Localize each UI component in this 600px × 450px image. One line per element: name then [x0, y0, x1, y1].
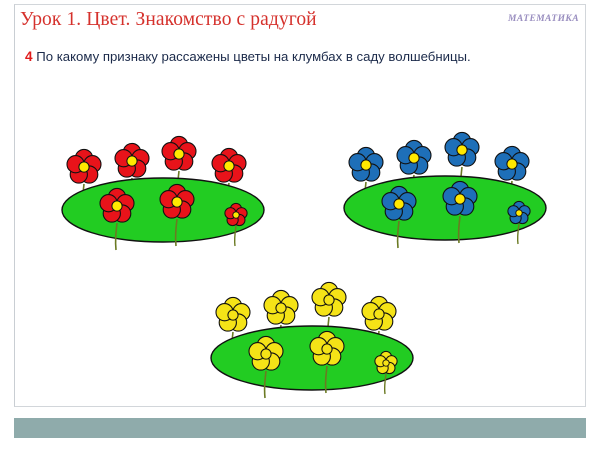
flower-back-row: [67, 136, 246, 211]
flower-back-row: [349, 132, 529, 209]
page-title: Урок 1. Цвет. Знакомство с радугой: [20, 9, 317, 31]
flower-front-row: [100, 184, 247, 250]
question-number: 4: [25, 49, 33, 64]
flower-front-row: [249, 331, 397, 398]
footer-accent-bar: [14, 418, 586, 438]
flower-back-row: [216, 282, 396, 359]
flower-bed-red: [53, 123, 283, 253]
question-block: 4 По какому признаку рассажены цветы на …: [25, 48, 525, 65]
bed-ground-ellipse: [62, 178, 264, 242]
flower-front-row: [382, 181, 530, 248]
bed-ground-ellipse: [344, 176, 546, 240]
garden-illustration: Три клумбы с цветами разного цвета Красн…: [15, 5, 587, 408]
slide-root: Урок 1. Цвет. Знакомство с радугой МАТЕМ…: [0, 0, 600, 450]
bed-ground-ellipse: [211, 326, 413, 390]
flower-bed-yellow: [201, 267, 431, 402]
slide-frame: Урок 1. Цвет. Знакомство с радугой МАТЕМ…: [14, 4, 586, 407]
slide-header: Урок 1. Цвет. Знакомство с радугой МАТЕМ…: [15, 5, 587, 41]
subject-badge: МАТЕМАТИКА: [508, 14, 579, 24]
flower-bed-blue: [335, 117, 565, 252]
question-text: По какому признаку рассажены цветы на кл…: [33, 49, 471, 64]
